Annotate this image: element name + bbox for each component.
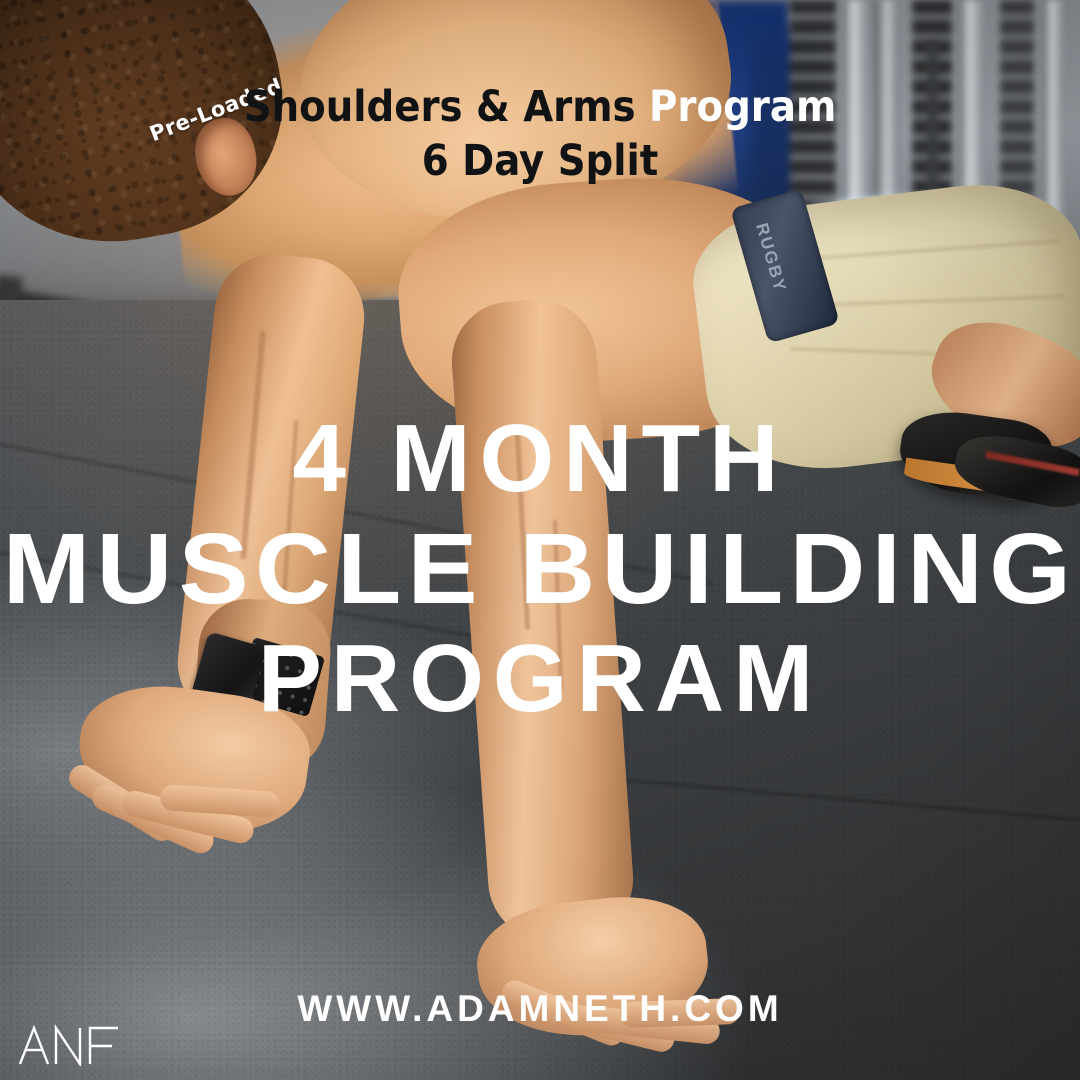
website-url[interactable]: WWW.ADAMNETH.COM	[0, 988, 1080, 1030]
headline-line-1: Shoulders & Arms Program	[0, 86, 1080, 129]
headline-program-word: Program	[636, 82, 837, 132]
promotional-poster: RUGBY Pre-Loaded Shoulders & Arms Prog	[0, 0, 1080, 1080]
title-line-2: MUSCLE BUILDING	[0, 520, 1080, 618]
title-line-1: 4 MONTH	[0, 412, 1080, 506]
headline-muscle-groups: Shoulders & Arms	[244, 82, 636, 132]
program-headline: Shoulders & Arms Program 6 Day Split	[0, 86, 1080, 183]
title-line-3: PROGRAM	[0, 632, 1080, 726]
anf-logo[interactable]	[18, 1022, 122, 1066]
main-title: 4 MONTH MUSCLE BUILDING PROGRAM	[0, 412, 1080, 726]
headline-split: 6 Day Split	[0, 140, 1080, 183]
